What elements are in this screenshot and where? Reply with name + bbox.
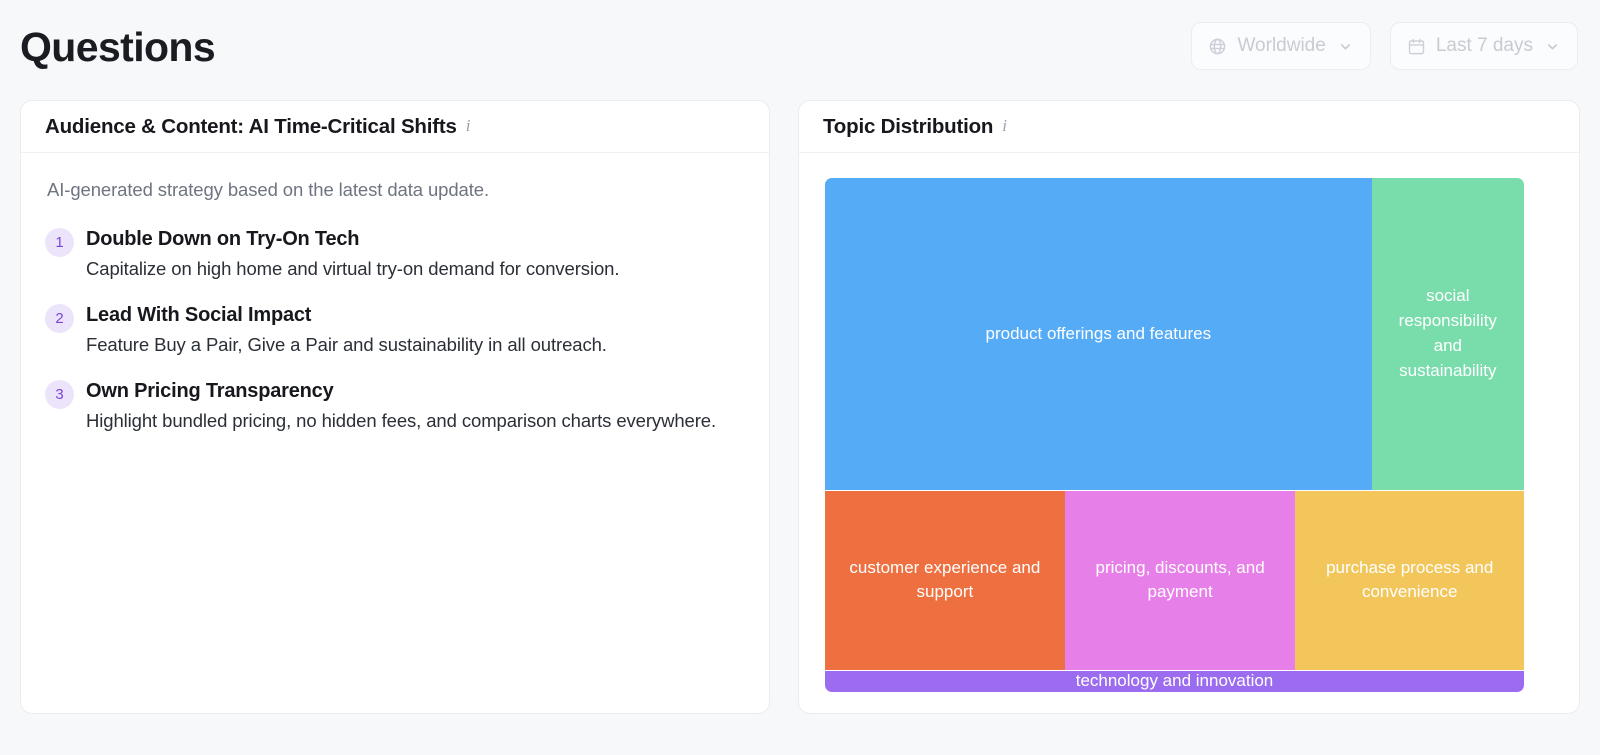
treemap-cell[interactable]: social responsibility and sustainability bbox=[1372, 178, 1524, 490]
list-item: 2 Lead With Social Impact Feature Buy a … bbox=[45, 303, 745, 356]
audience-content-card: Audience & Content: AI Time-Critical Shi… bbox=[20, 100, 770, 714]
audience-content-card-header: Audience & Content: AI Time-Critical Shi… bbox=[21, 101, 769, 153]
info-icon[interactable]: i bbox=[1002, 117, 1007, 136]
chevron-down-icon bbox=[1338, 39, 1353, 54]
topic-distribution-card-header: Topic Distribution i bbox=[799, 101, 1579, 153]
topic-distribution-card: Topic Distribution i product offerings a… bbox=[798, 100, 1580, 714]
recommendation-number-badge: 1 bbox=[45, 228, 74, 257]
recommendation-number-badge: 2 bbox=[45, 304, 74, 333]
treemap-cell-label: product offerings and features bbox=[986, 322, 1212, 347]
recommendation-number-badge: 3 bbox=[45, 380, 74, 409]
audience-content-card-title: Audience & Content: AI Time-Critical Shi… bbox=[45, 115, 457, 139]
treemap-cell[interactable]: purchase process and convenience bbox=[1295, 491, 1524, 670]
list-item: 3 Own Pricing Transparency Highlight bun… bbox=[45, 379, 745, 432]
treemap-cell-label: technology and innovation bbox=[1076, 671, 1274, 692]
recommendation-heading: Lead With Social Impact bbox=[86, 304, 607, 327]
treemap-cell[interactable]: technology and innovation bbox=[825, 671, 1524, 692]
recommendation-text: Lead With Social Impact Feature Buy a Pa… bbox=[86, 303, 607, 356]
recommendation-text: Own Pricing Transparency Highlight bundl… bbox=[86, 379, 716, 432]
region-filter-label: Worldwide bbox=[1237, 35, 1325, 57]
info-icon[interactable]: i bbox=[466, 117, 471, 136]
region-filter-dropdown[interactable]: Worldwide bbox=[1191, 22, 1370, 70]
recommendation-description: Feature Buy a Pair, Give a Pair and sust… bbox=[86, 334, 607, 356]
treemap-cell-label: pricing, discounts, and payment bbox=[1073, 556, 1286, 606]
chevron-down-icon bbox=[1545, 39, 1560, 54]
page-title: Questions bbox=[20, 25, 215, 68]
filter-bar: Worldwide Last 7 days bbox=[1191, 22, 1578, 70]
recommendation-heading: Double Down on Try-On Tech bbox=[86, 228, 619, 251]
treemap-cell-label: purchase process and convenience bbox=[1303, 556, 1516, 606]
recommendation-description: Capitalize on high home and virtual try-… bbox=[86, 258, 619, 280]
topic-distribution-card-title: Topic Distribution bbox=[823, 115, 993, 139]
recommendation-heading: Own Pricing Transparency bbox=[86, 380, 716, 403]
recommendation-list: 1 Double Down on Try-On Tech Capitalize … bbox=[45, 227, 745, 432]
treemap-cell-label: customer experience and support bbox=[833, 556, 1057, 606]
date-range-filter-dropdown[interactable]: Last 7 days bbox=[1390, 22, 1578, 70]
list-item: 1 Double Down on Try-On Tech Capitalize … bbox=[45, 227, 745, 280]
treemap-cell-label: social responsibility and sustainability bbox=[1384, 284, 1512, 383]
recommendation-text: Double Down on Try-On Tech Capitalize on… bbox=[86, 227, 619, 280]
globe-icon bbox=[1208, 37, 1227, 56]
recommendation-description: Highlight bundled pricing, no hidden fee… bbox=[86, 410, 716, 432]
treemap-cell[interactable]: product offerings and features bbox=[825, 178, 1372, 490]
topic-distribution-chart: product offerings and featuressocial res… bbox=[825, 178, 1524, 692]
page-header: Questions Worldwide bbox=[0, 0, 1600, 92]
treemap: product offerings and featuressocial res… bbox=[825, 178, 1524, 692]
treemap-cell[interactable]: customer experience and support bbox=[825, 491, 1065, 670]
audience-content-card-body: AI-generated strategy based on the lates… bbox=[21, 153, 769, 432]
calendar-icon bbox=[1407, 37, 1426, 56]
card-subtitle: AI-generated strategy based on the lates… bbox=[47, 179, 745, 201]
date-range-filter-label: Last 7 days bbox=[1436, 35, 1533, 57]
treemap-cell[interactable]: pricing, discounts, and payment bbox=[1065, 491, 1294, 670]
